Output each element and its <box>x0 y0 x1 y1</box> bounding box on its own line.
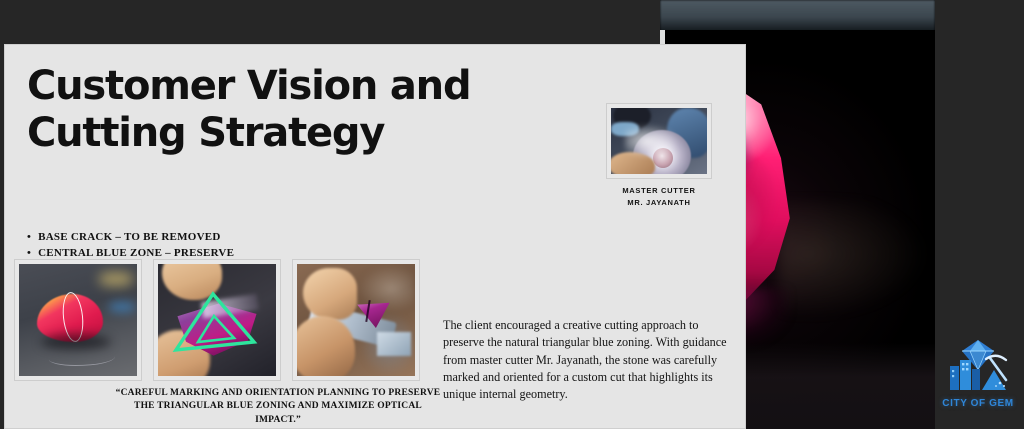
bullet-label: BASE CRACK – TO BE REMOVED <box>38 230 220 246</box>
photo-image <box>297 264 415 376</box>
master-cutter-label: MASTER CUTTER MR. JAYANATH <box>606 185 712 208</box>
photo-image <box>158 264 276 376</box>
photo-master-cutter-at-grinding-wheel[interactable] <box>606 103 712 179</box>
photo-strip <box>14 259 420 381</box>
video-backlight-glow <box>778 200 928 320</box>
photo-rough-ruby-with-crack-marking[interactable] <box>14 259 142 381</box>
page-title-line-1: Customer Vision and <box>27 63 547 110</box>
brand-name: CITY OF GEM <box>938 398 1018 409</box>
master-cutter-label-line-2: MR. JAYANATH <box>606 197 712 209</box>
photo-image <box>611 108 707 174</box>
body-paragraph: The client encouraged a creative cutting… <box>443 317 739 404</box>
work-plate <box>377 332 411 356</box>
bokeh-warm <box>99 272 133 286</box>
bullet-dot-icon: • <box>27 230 31 246</box>
master-cutter-block: MASTER CUTTER MR. JAYANATH <box>606 103 712 208</box>
presentation-slide[interactable]: Customer Vision and Cutting Strategy • B… <box>4 44 746 429</box>
surface-scratch <box>49 350 115 366</box>
photo-gem-with-green-triangle-marking[interactable] <box>153 259 281 381</box>
screen-root: CITY OF GEM Customer Vision and Cutting … <box>0 0 1024 429</box>
brand-logo: CITY OF GEM <box>938 336 1018 422</box>
page-title: Customer Vision and Cutting Strategy <box>27 63 547 157</box>
photo-strip-caption: “CAREFUL MARKING AND ORIENTATION PLANNIN… <box>113 387 443 427</box>
bullet-list: • BASE CRACK – TO BE REMOVED • CENTRAL B… <box>27 230 367 262</box>
wheel-glow <box>625 124 679 158</box>
photo-hand-holding-marked-gem[interactable] <box>292 259 420 381</box>
list-item: • BASE CRACK – TO BE REMOVED <box>27 230 367 246</box>
index-finger <box>303 268 357 320</box>
bokeh-blue <box>109 302 135 312</box>
photo-image <box>19 264 137 376</box>
green-triangle-annotation <box>158 264 276 376</box>
page-title-line-2: Cutting Strategy <box>27 110 547 157</box>
logo-artwork <box>938 336 1018 402</box>
stone-shadow <box>41 334 111 350</box>
master-cutter-label-line-1: MASTER CUTTER <box>606 185 712 197</box>
